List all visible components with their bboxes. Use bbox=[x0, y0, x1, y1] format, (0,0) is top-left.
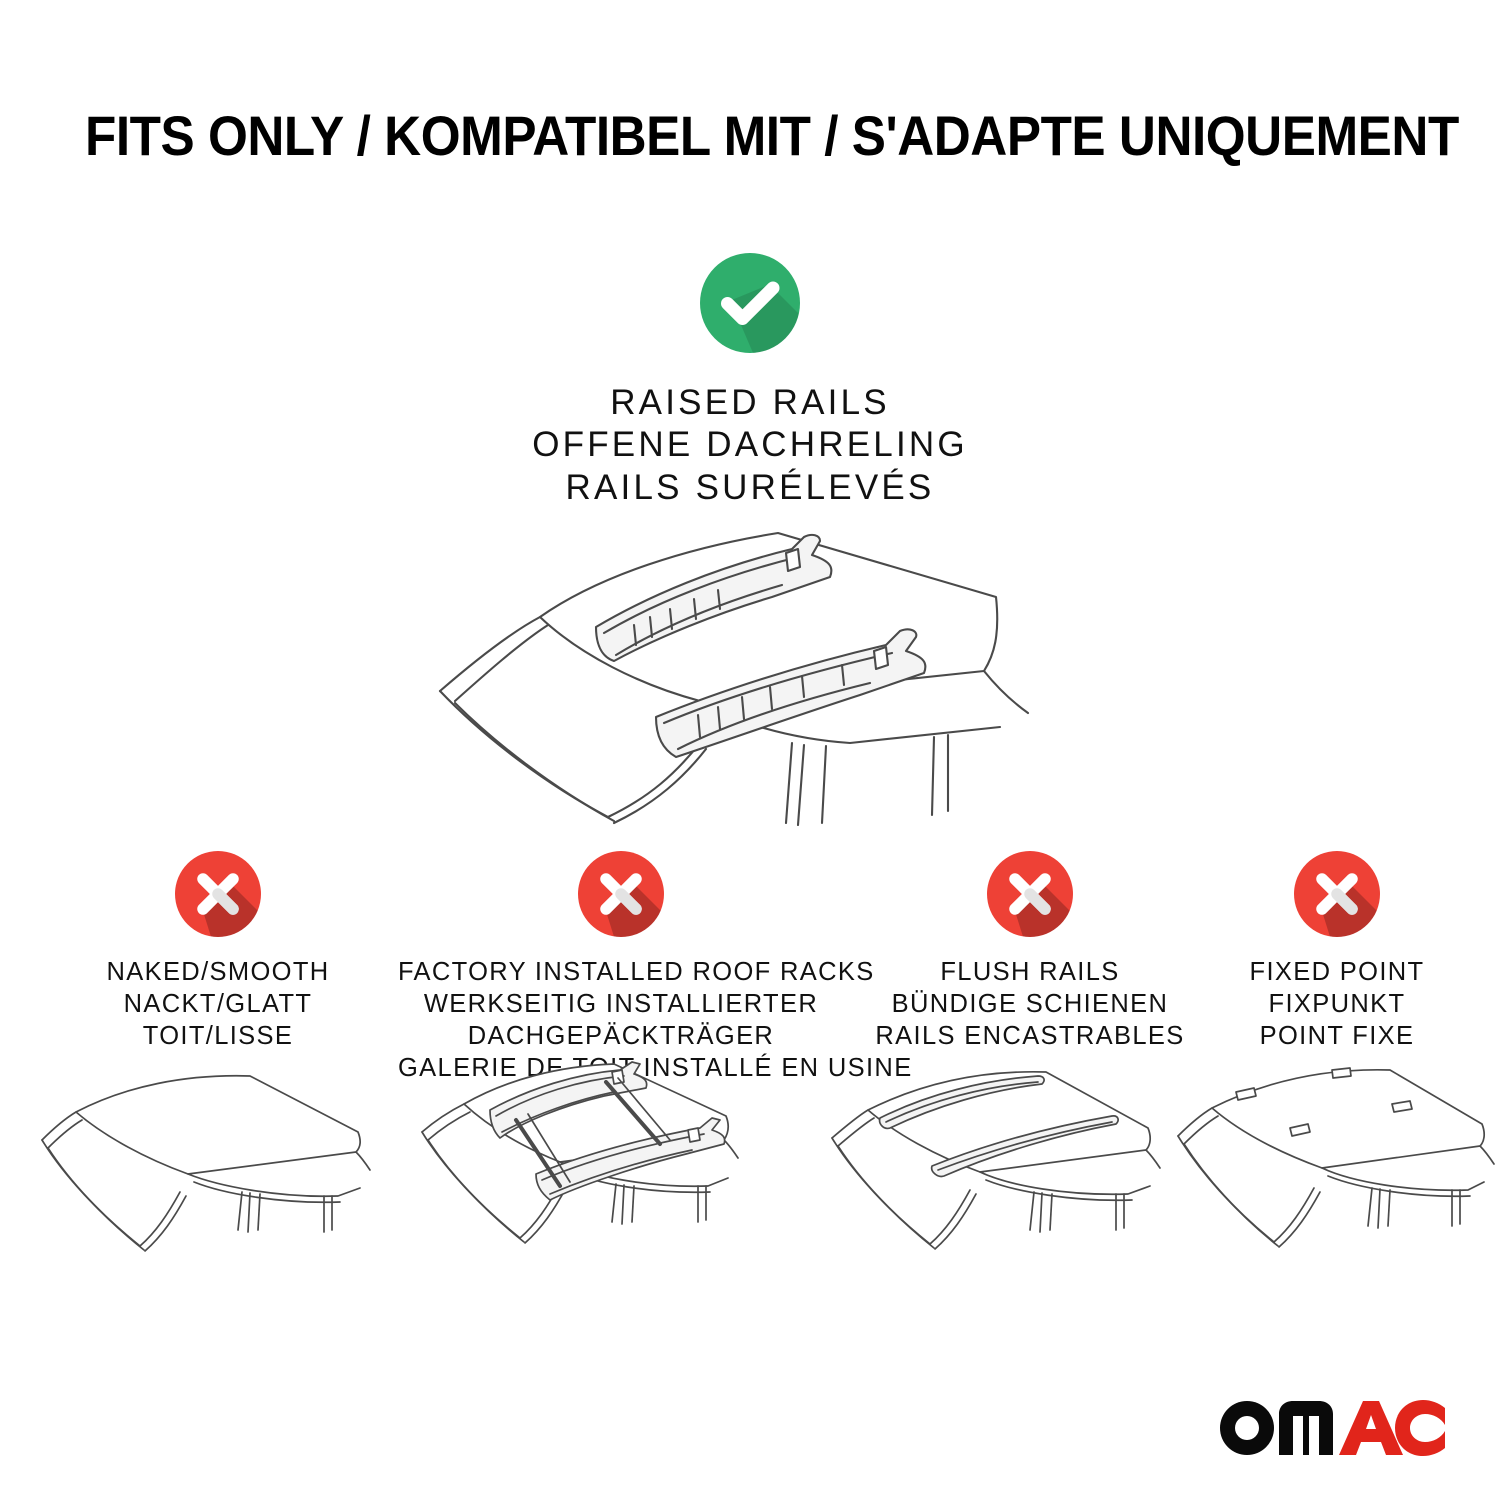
rejected-1-label-en: NAKED/SMOOTH bbox=[48, 956, 388, 988]
rejected-item-flush-rails: FLUSH RAILS BÜNDIGE SCHIENEN RAILS ENCAS… bbox=[862, 848, 1198, 1052]
car-roof-raised-rails-illustration bbox=[400, 505, 1100, 835]
approved-label-fr: RAILS SURÉLEVÉS bbox=[0, 467, 1500, 509]
x-circle-icon bbox=[984, 848, 1076, 940]
logo-letter-m bbox=[1279, 1401, 1333, 1455]
logo-letter-o bbox=[1220, 1401, 1274, 1455]
rejected-labels-1: NAKED/SMOOTH NACKT/GLATT TOIT/LISSE bbox=[48, 956, 388, 1052]
rejected-4-label-fr: POINT FIXE bbox=[1212, 1020, 1462, 1052]
rejected-2-label-en: FACTORY INSTALLED ROOF RACKS bbox=[398, 956, 844, 988]
rejected-2-label-de2: DACHGEPÄCKTRÄGER bbox=[398, 1020, 844, 1052]
rejected-item-naked-smooth: NAKED/SMOOTH NACKT/GLATT TOIT/LISSE bbox=[48, 848, 388, 1052]
rejected-4-label-de: FIXPUNKT bbox=[1212, 988, 1462, 1020]
approved-label-en: RAISED RAILS bbox=[0, 382, 1500, 424]
rejected-3-label-en: FLUSH RAILS bbox=[862, 956, 1198, 988]
rejected-1-label-fr: TOIT/LISSE bbox=[48, 1020, 388, 1052]
rejected-labels-4: FIXED POINT FIXPUNKT POINT FIXE bbox=[1212, 956, 1462, 1052]
x-circle-icon bbox=[1291, 848, 1383, 940]
rejected-labels-3: FLUSH RAILS BÜNDIGE SCHIENEN RAILS ENCAS… bbox=[862, 956, 1198, 1052]
logo-letter-c bbox=[1395, 1400, 1445, 1456]
logo-letter-a bbox=[1339, 1401, 1403, 1455]
rejected-3-label-fr: RAILS ENCASTRABLES bbox=[862, 1020, 1198, 1052]
car-roof-fixed-point-illustration bbox=[1176, 1062, 1500, 1297]
omac-logo bbox=[1215, 1390, 1445, 1458]
rejected-1-label-de: NACKT/GLATT bbox=[48, 988, 388, 1020]
check-circle-icon bbox=[697, 250, 803, 356]
x-circle-icon bbox=[172, 848, 264, 940]
rejected-item-factory-racks: FACTORY INSTALLED ROOF RACKS WERKSEITIG … bbox=[398, 848, 844, 1084]
rejected-4-label-en: FIXED POINT bbox=[1212, 956, 1462, 988]
car-roof-factory-racks-illustration bbox=[398, 1062, 764, 1297]
page-title: FITS ONLY / KOMPATIBEL MIT / S'ADAPTE UN… bbox=[85, 108, 1311, 164]
rejected-2-label-de1: WERKSEITIG INSTALLIERTER bbox=[398, 988, 844, 1020]
car-roof-naked-smooth-illustration bbox=[38, 1062, 386, 1297]
approved-section: RAISED RAILS OFFENE DACHRELING RAILS SUR… bbox=[0, 250, 1500, 509]
car-roof-flush-rails-illustration bbox=[828, 1062, 1186, 1297]
x-circle-icon bbox=[575, 848, 667, 940]
approved-labels: RAISED RAILS OFFENE DACHRELING RAILS SUR… bbox=[0, 382, 1500, 509]
rejected-3-label-de: BÜNDIGE SCHIENEN bbox=[862, 988, 1198, 1020]
approved-label-de: OFFENE DACHRELING bbox=[0, 424, 1500, 466]
rejected-item-fixed-point: FIXED POINT FIXPUNKT POINT FIXE bbox=[1212, 848, 1462, 1052]
